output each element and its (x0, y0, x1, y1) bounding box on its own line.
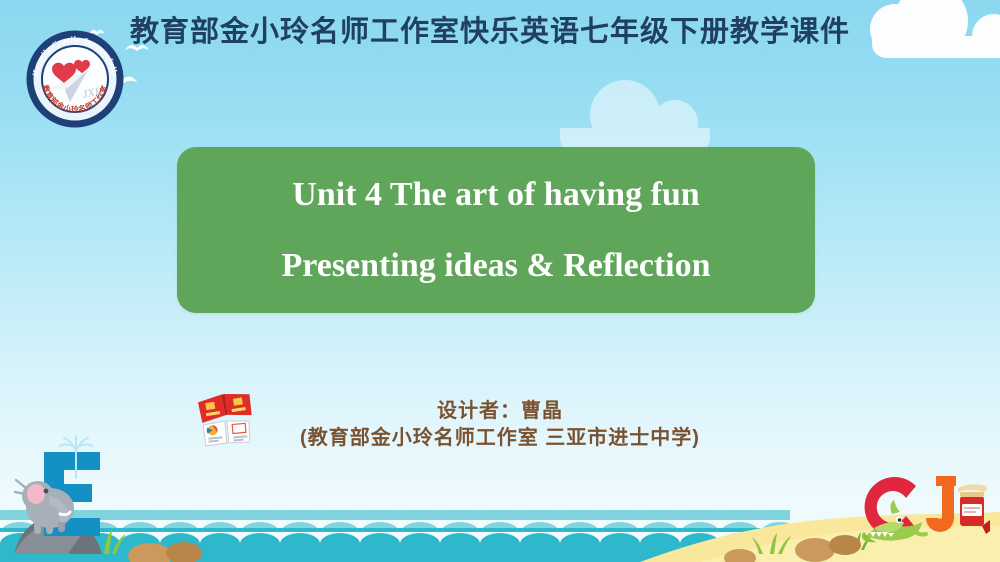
page-title: 教育部金小玲名师工作室快乐英语七年级下册教学课件 (130, 11, 890, 53)
unit-title-line-1: Unit 4 The art of having fun (292, 176, 699, 213)
studio-badge-logo: Happily Crazily Successfully 教育部金小玲名师工作室… (26, 30, 124, 128)
letter-c-crocodile-icon (852, 466, 930, 552)
letter-e-elephant-icon (14, 434, 144, 554)
slide-canvas: Happily Crazily Successfully 教育部金小玲名师工作室… (0, 0, 1000, 562)
letter-j-jam-icon (924, 470, 990, 544)
cloud-top-right-small-icon (966, 44, 1000, 58)
bottom-scene (0, 432, 1000, 562)
unit-title-line-2: Presenting ideas & Reflection (281, 247, 710, 284)
unit-title-panel: Unit 4 The art of having fun Presenting … (177, 147, 815, 313)
designer-name: 设计者：曹晶 (0, 398, 1000, 424)
